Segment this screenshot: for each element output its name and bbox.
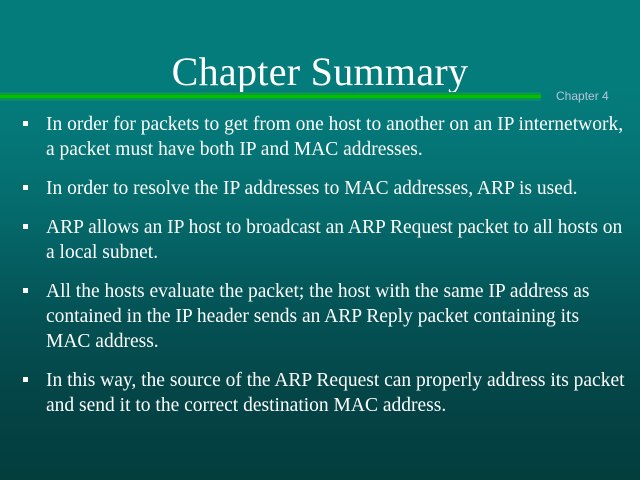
presentation-slide: Chapter Summary Chapter 4 In order for p…	[0, 0, 640, 480]
title-divider-row: Chapter 4	[0, 88, 640, 108]
list-item-text: In this way, the source of the ARP Reque…	[46, 368, 628, 418]
list-item-text: In order for packets to get from one hos…	[46, 112, 628, 162]
list-item: ARP allows an IP host to broadcast an AR…	[12, 215, 628, 265]
divider-line-5	[0, 99, 541, 101]
bullet-dot-icon	[23, 185, 28, 190]
bullet-dot-icon	[23, 288, 28, 293]
chapter-label: Chapter 4	[556, 88, 609, 105]
list-item: In order to resolve the IP addresses to …	[12, 176, 628, 201]
list-item: In order for packets to get from one hos…	[12, 112, 628, 162]
list-item-text: ARP allows an IP host to broadcast an AR…	[46, 215, 628, 265]
bullet-dot-icon	[23, 121, 28, 126]
list-item-text: In order to resolve the IP addresses to …	[46, 176, 628, 201]
list-item: In this way, the source of the ARP Reque…	[12, 368, 628, 418]
list-item-text: All the hosts evaluate the packet; the h…	[46, 279, 628, 354]
bullet-dot-icon	[23, 377, 28, 382]
list-item: All the hosts evaluate the packet; the h…	[12, 279, 628, 354]
bullet-list: In order for packets to get from one hos…	[12, 112, 628, 418]
divider-rule	[0, 92, 541, 101]
bullet-dot-icon	[23, 224, 28, 229]
